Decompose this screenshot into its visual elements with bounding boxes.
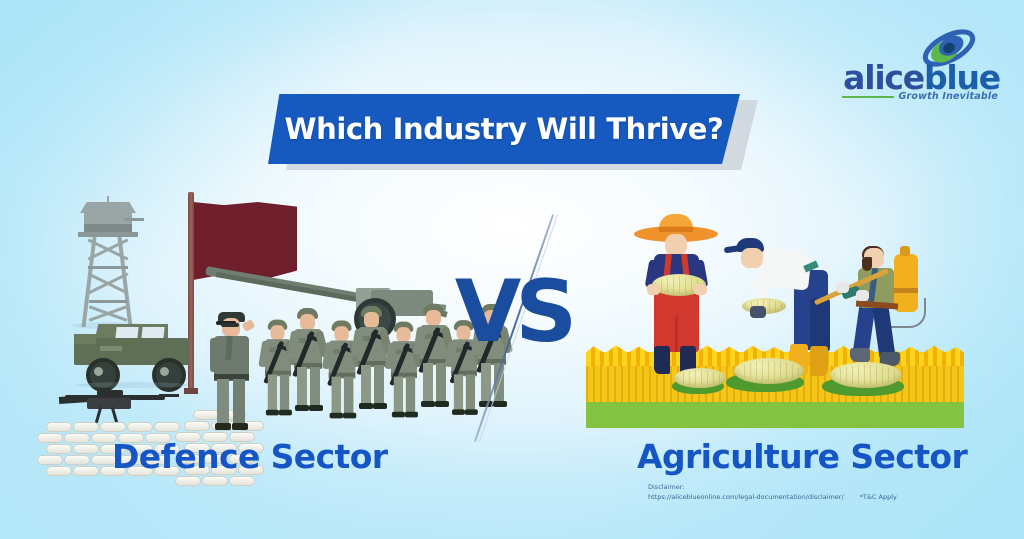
saluting-officer-icon (204, 308, 260, 430)
terms-conditions-note: *T&C Apply (860, 492, 897, 502)
defence-sector-caption: Defence Sector (112, 437, 387, 476)
poster-canvas: aliceblue Growth Inevitable Which Indust… (0, 0, 1024, 539)
machine-gun-icon (41, 386, 186, 426)
melon-crop-icon (734, 358, 804, 384)
versus-label: VS (452, 274, 574, 351)
aliceblue-logo[interactable]: aliceblue Growth Inevitable (810, 28, 1000, 106)
agriculture-illustration (586, 196, 964, 428)
tagline-rule (842, 96, 894, 98)
defence-illustration (36, 186, 451, 428)
grass-field-icon (586, 399, 964, 428)
disclaimer: Disclaimer: https://aliceblueonline.com/… (648, 482, 988, 502)
farmer-with-hat-icon (634, 206, 718, 386)
watch-tower-icon (74, 198, 140, 326)
flag-pole-base (184, 388, 198, 394)
disclaimer-url[interactable]: https://aliceblueonline.com/legal-docume… (648, 492, 844, 502)
page-title: Which Industry Will Thrive? (285, 112, 724, 146)
melon-crop-icon (674, 368, 726, 388)
banner-shape: Which Industry Will Thrive? (268, 94, 740, 164)
agriculture-sector-caption: Agriculture Sector (637, 437, 967, 476)
soldier-figure (288, 304, 328, 414)
logo-tagline-row: Growth Inevitable (842, 91, 998, 102)
logo-tagline: Growth Inevitable (899, 91, 998, 102)
military-jeep-icon (74, 322, 194, 384)
melon-crop-icon (830, 362, 902, 388)
title-banner: Which Industry Will Thrive? (268, 94, 760, 170)
disclaimer-label: Disclaimer: (648, 482, 988, 492)
versus-divider: VS (452, 212, 574, 442)
logo-wordmark: aliceblue (814, 61, 1000, 94)
